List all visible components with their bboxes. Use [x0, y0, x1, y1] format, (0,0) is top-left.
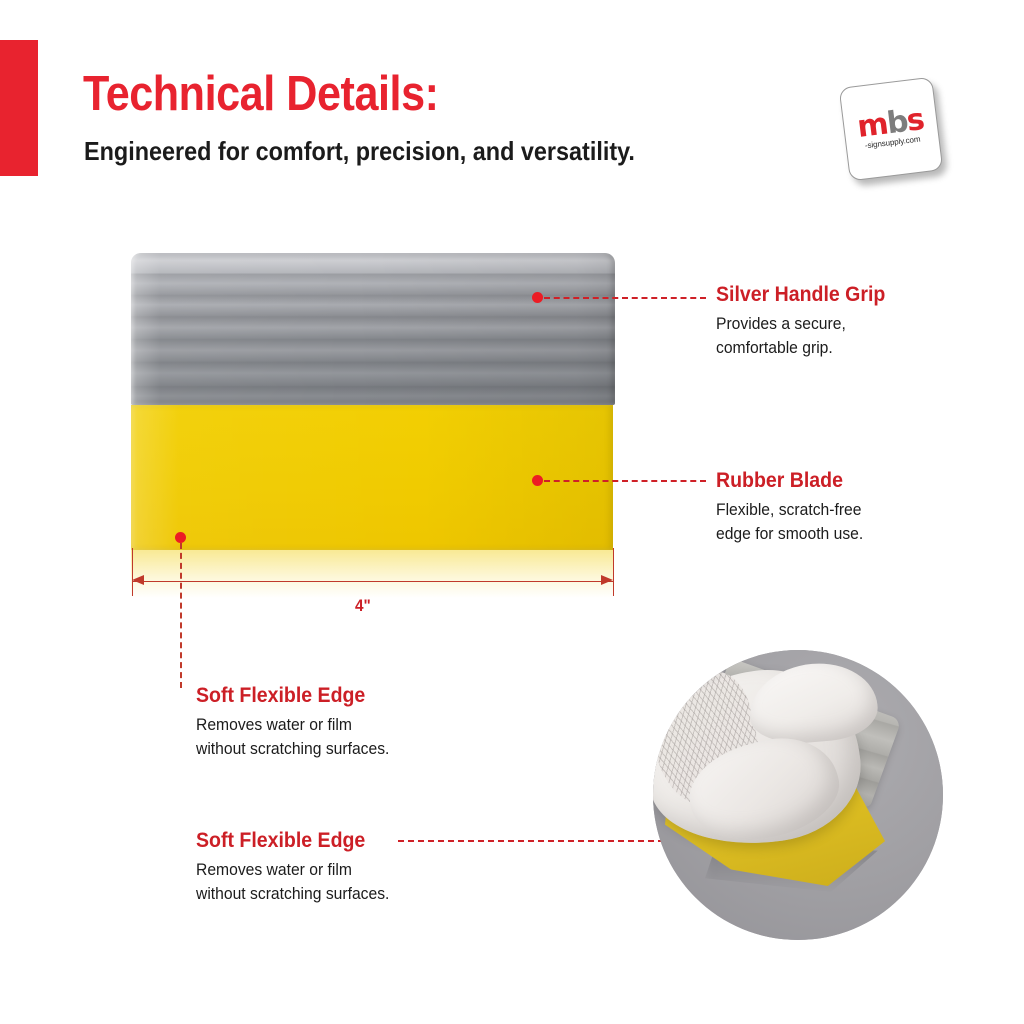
- leader-line-silver-handle-grip: [544, 297, 706, 299]
- callout-rubber-blade: Rubber Blade Flexible, scratch-free edge…: [716, 470, 871, 547]
- logo-inner: mbs -signsupply.com: [840, 78, 943, 181]
- callout-soft-flexible-edge-top: Soft Flexible Edge Removes water or film…: [196, 685, 400, 762]
- page-subtitle: Engineered for comfort, precision, and v…: [84, 138, 635, 164]
- header-accent-bar: [0, 40, 38, 176]
- callout-body: Removes water or film without scratching…: [196, 714, 389, 762]
- leader-line-rubber-blade: [544, 480, 706, 482]
- leader-dot-soft-flexible-edge-top: [175, 532, 186, 543]
- dimension-line: [132, 581, 613, 582]
- callout-title: Silver Handle Grip: [716, 284, 885, 305]
- callout-silver-handle-grip: Silver Handle Grip Provides a secure, co…: [716, 284, 898, 361]
- infographic-canvas: Technical Details: Engineered for comfor…: [0, 0, 1024, 1024]
- dimension-arrow-left: [132, 575, 144, 585]
- callout-body: Flexible, scratch-free edge for smooth u…: [716, 499, 863, 547]
- brand-logo[interactable]: mbs -signsupply.com: [838, 78, 946, 186]
- dimension-label: 4": [355, 596, 371, 616]
- squeegee-reflection: [131, 550, 613, 598]
- callout-body: Removes water or film without scratching…: [196, 859, 389, 907]
- logo-letter-s: s: [905, 102, 926, 139]
- logo-card: mbs -signsupply.com: [839, 77, 944, 182]
- dimension-extension-right: [613, 548, 614, 596]
- page-title: Technical Details:: [83, 70, 439, 119]
- dimension-arrow-right: [601, 575, 613, 585]
- callout-title: Soft Flexible Edge: [196, 830, 385, 851]
- inset-photo-gloved-hand: [653, 650, 943, 940]
- leader-line-soft-flexible-edge-top: [180, 543, 182, 688]
- leader-dot-rubber-blade: [532, 475, 543, 486]
- callout-soft-flexible-edge-bottom: Soft Flexible Edge Removes water or film…: [196, 830, 400, 907]
- callout-title: Soft Flexible Edge: [196, 685, 385, 706]
- callout-title: Rubber Blade: [716, 470, 860, 491]
- leader-line-soft-flexible-edge-bottom: [398, 840, 694, 842]
- squeegee-handle-highlight: [131, 253, 615, 405]
- callout-body: Provides a secure, comfortable grip.: [716, 313, 889, 361]
- leader-dot-silver-handle-grip: [532, 292, 543, 303]
- dimension-extension-left: [132, 548, 133, 596]
